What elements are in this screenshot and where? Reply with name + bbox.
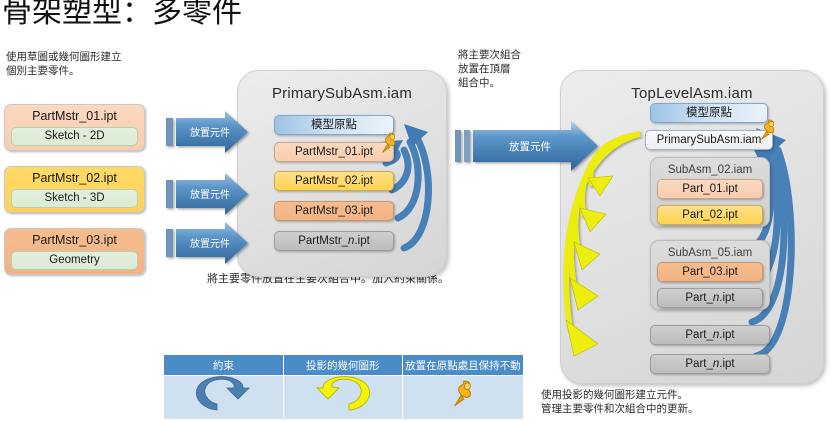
toplevel-loose-part-1[interactable]: Part_n.ipt — [650, 325, 770, 345]
place-component-label-middle: 放置元件 — [490, 139, 570, 154]
legend-header-grounded-at-origin: 放置在原點處且保持不動 — [402, 355, 523, 376]
legend-header-projected-geometry: 投影的幾何圖形 — [283, 355, 402, 376]
blue-curved-arrow-icon — [194, 376, 252, 414]
node-label-italic-n: Part_n.ipt — [685, 292, 734, 304]
node-label-italic-n: PartMstr_n.ipt — [298, 235, 370, 247]
legend-cell-constraint — [164, 376, 283, 420]
subasm05-part-03[interactable]: Part_03.ipt — [657, 262, 763, 282]
diagram-canvas: 骨架塑型：多零件 使用草圖或幾何圖形建立 個別主要零件。 將主要次組合 放置在頂… — [0, 0, 839, 422]
toplevel-loose-part-2[interactable]: Part_n.ipt — [650, 354, 770, 374]
primary-node-model-origin[interactable]: 模型原點 — [274, 115, 394, 135]
primary-node-partmstr-02[interactable]: PartMstr_02.ipt — [274, 171, 394, 191]
place-component-label-1: 放置元件 — [180, 124, 240, 139]
part-master-box-3[interactable]: PartMstr_03.ipt Geometry — [4, 228, 145, 275]
pushpin-icon — [449, 378, 477, 412]
node-label-italic-n: Part_n.ipt — [685, 329, 734, 341]
part-master-box-2[interactable]: PartMstr_02.ipt Sketch - 3D — [4, 166, 145, 213]
legend-cell-grounded-at-origin — [402, 376, 523, 420]
primary-node-partmstr-01[interactable]: PartMstr_01.ipt — [274, 142, 394, 162]
primary-node-partmstr-03[interactable]: PartMstr_03.ipt — [274, 201, 394, 221]
primary-sub-assembly-title: PrimarySubAsm.iam — [238, 85, 446, 102]
subassembly-label: SubAsm_02.iam — [651, 163, 769, 178]
legend-header-row: 約束 投影的幾何圖形 放置在原點處且保持不動 — [164, 355, 523, 376]
subasm02-part-01[interactable]: Part_01.ipt — [657, 179, 763, 199]
part-master-subtype: Sketch - 3D — [11, 189, 138, 208]
primary-node-partmstr-n[interactable]: PartMstr_n.ipt — [274, 231, 394, 251]
part-master-title: PartMstr_01.ipt — [5, 108, 144, 125]
toplevel-node-model-origin[interactable]: 模型原點 — [650, 103, 768, 123]
pushpin-icon-toplevel — [757, 118, 779, 149]
part-master-title: PartMstr_02.ipt — [5, 170, 144, 187]
note-left: 使用草圖或幾何圖形建立 個別主要零件。 — [6, 50, 176, 78]
pushpin-icon-primary — [378, 131, 400, 162]
place-component-label-3: 放置元件 — [180, 235, 240, 250]
legend-cell-projected-geometry — [283, 376, 402, 420]
page-title: 骨架塑型：多零件 — [2, 0, 242, 32]
legend-table: 約束 投影的幾何圖形 放置在原點處且保持不動 — [163, 354, 524, 420]
part-master-subtype: Geometry — [11, 251, 138, 270]
subassembly-label: SubAsm_05.iam — [651, 246, 769, 261]
note-top-middle: 將主要次組合 放置在頂層 組合中。 — [458, 48, 568, 90]
part-master-subtype: Sketch - 2D — [11, 127, 138, 146]
part-master-box-1[interactable]: PartMstr_01.ipt Sketch - 2D — [4, 104, 145, 151]
top-level-assembly-title: TopLevelAsm.iam — [561, 85, 823, 102]
note-right-bottom: 使用投影的幾何圖形建立元件。 管理主要零件和次組合中的更新。 — [541, 388, 831, 416]
subasm05-part-n[interactable]: Part_n.ipt — [657, 288, 763, 308]
legend-icon-row — [164, 376, 523, 420]
part-master-title: PartMstr_03.ipt — [5, 232, 144, 249]
node-label-italic-n: Part_n.ipt — [685, 358, 734, 370]
toplevel-node-primary-sub-asm[interactable]: PrimarySubAsm.iam — [645, 130, 773, 150]
yellow-curved-arrow-icon — [314, 376, 372, 414]
legend-header-constraint: 約束 — [164, 355, 283, 376]
place-component-label-2: 放置元件 — [180, 186, 240, 201]
subasm02-part-02[interactable]: Part_02.ipt — [657, 205, 763, 225]
